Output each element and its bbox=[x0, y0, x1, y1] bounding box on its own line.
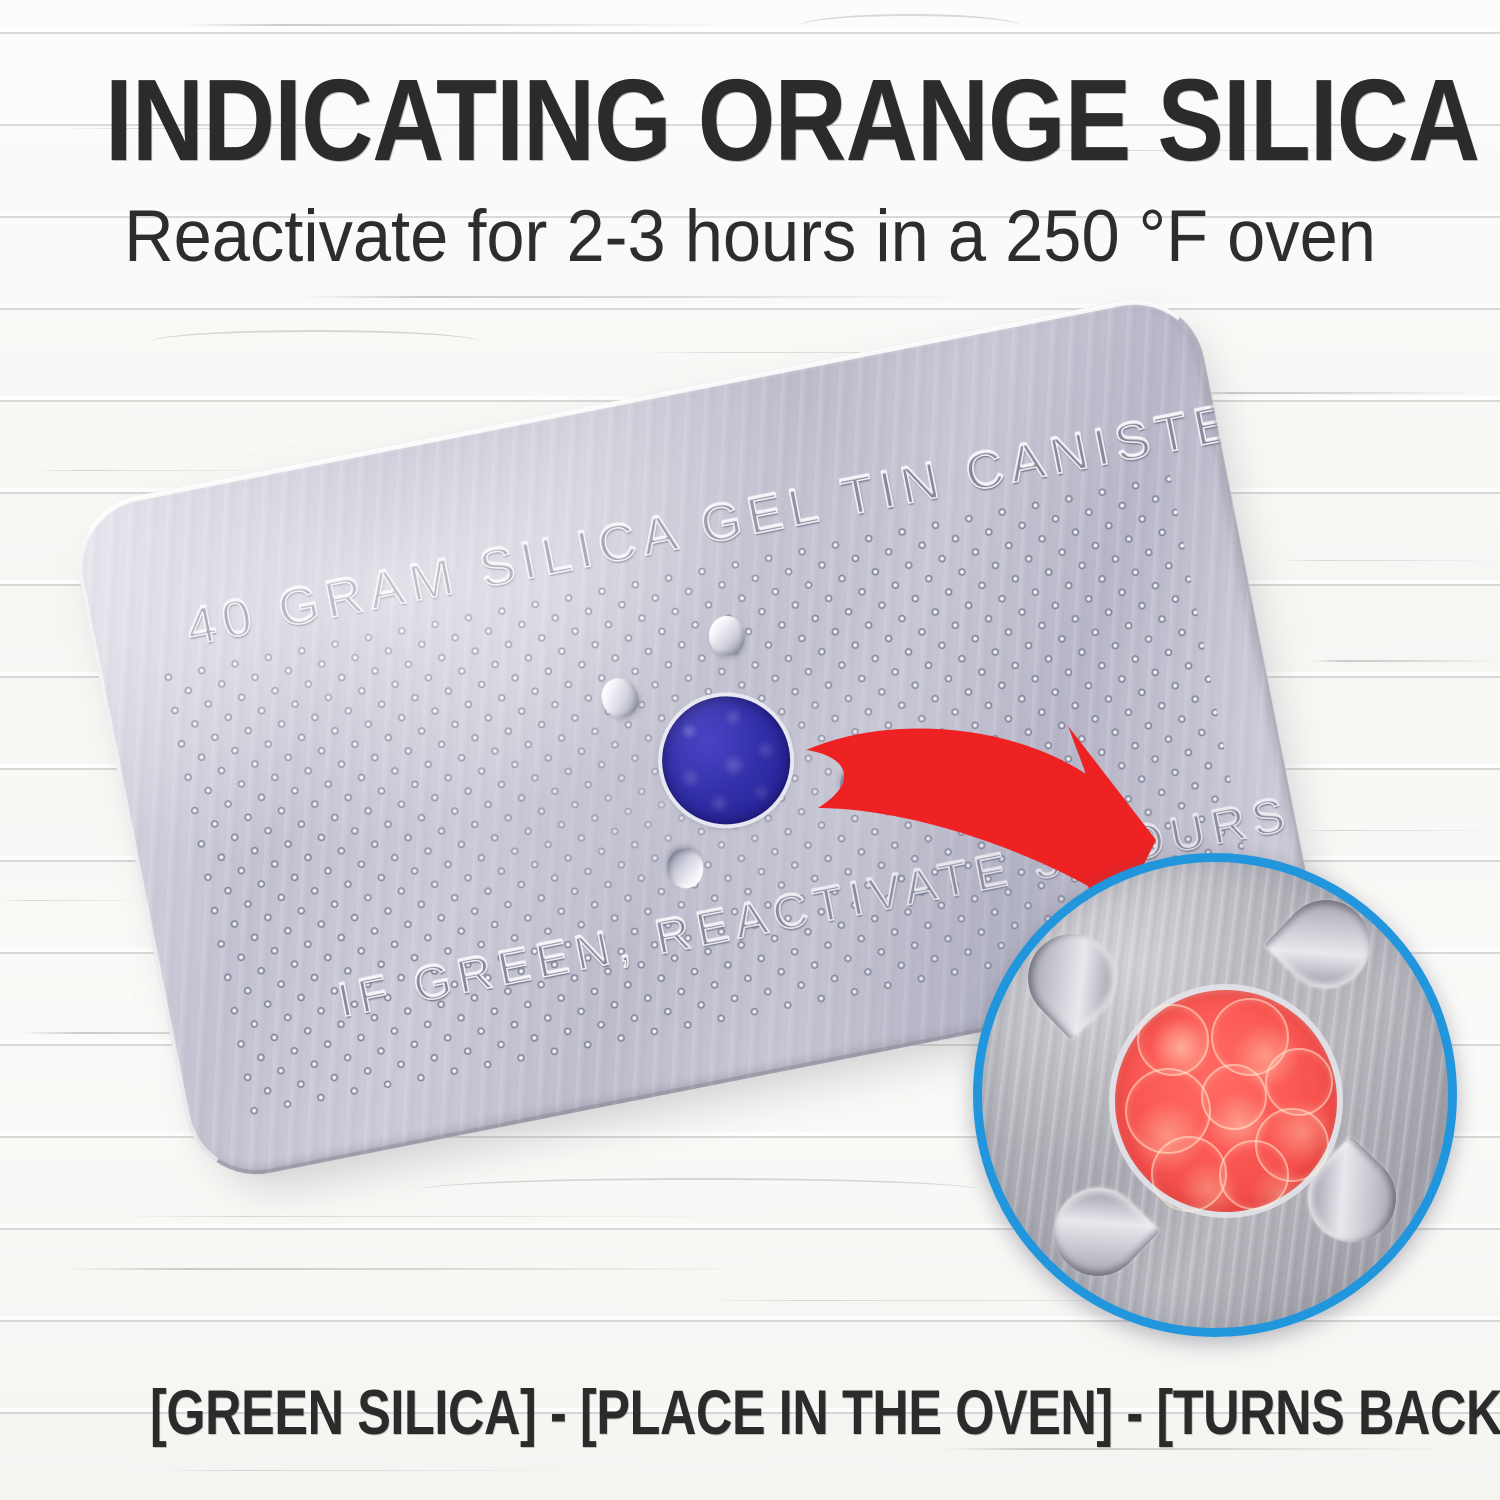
silica-bead bbox=[1151, 1136, 1227, 1212]
wood-grain-line bbox=[940, 1448, 1460, 1450]
wood-grain-knot bbox=[420, 1178, 980, 1190]
wood-grain-line bbox=[1310, 660, 1500, 662]
crescent-dimple-icon bbox=[1036, 1170, 1160, 1294]
wood-grain-line bbox=[1280, 560, 1500, 561]
wood-grain-knot bbox=[150, 330, 480, 342]
indicator-window-orange-magnified bbox=[1115, 990, 1337, 1212]
wood-grain-line bbox=[1300, 830, 1500, 831]
vent-bump-icon bbox=[666, 847, 705, 890]
wood-grain-line bbox=[300, 296, 980, 298]
bottom-caption: [GREEN SILICA] - [PLACE IN THE OVEN] - [… bbox=[150, 1382, 1350, 1445]
vent-bump-icon bbox=[708, 615, 746, 657]
wood-grain-line bbox=[0, 900, 150, 901]
vent-bump-icon bbox=[834, 762, 883, 813]
silica-bead bbox=[1201, 1064, 1267, 1130]
silica-bead bbox=[1265, 1048, 1333, 1116]
wood-grain-line bbox=[60, 1268, 760, 1270]
page-subtitle: Reactivate for 2-3 hours in a 250 °F ove… bbox=[45, 200, 1455, 273]
wood-grain-knot bbox=[800, 14, 1020, 26]
silica-bead bbox=[1137, 1004, 1209, 1076]
wood-grain-line bbox=[30, 470, 290, 471]
magnifier-inset-icon bbox=[973, 853, 1457, 1337]
vent-bump-icon bbox=[595, 672, 645, 724]
page-title: INDICATING ORANGE SILICA GEL bbox=[105, 62, 1395, 178]
wood-grain-line bbox=[160, 1470, 580, 1471]
indicator-window-blue bbox=[651, 685, 801, 835]
wood-grain-line bbox=[1180, 392, 1480, 394]
wood-grain-line bbox=[180, 24, 740, 26]
wood-grain-line bbox=[120, 1216, 760, 1217]
silica-bead bbox=[1219, 1140, 1289, 1210]
